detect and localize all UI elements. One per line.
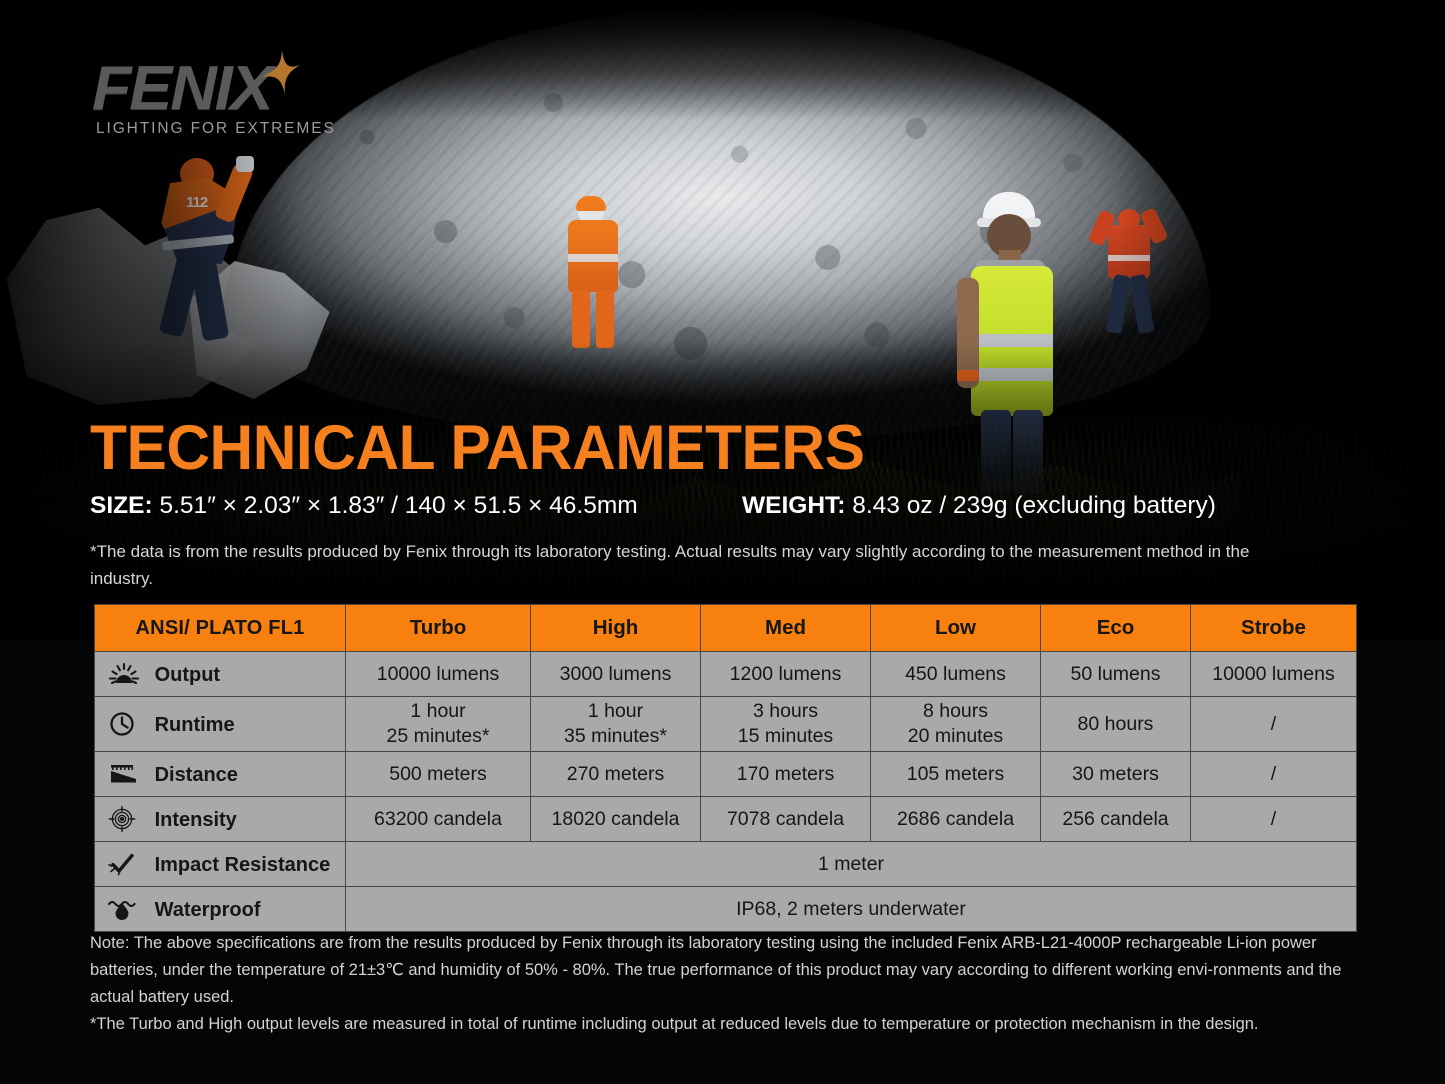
cell-output-med: 1200 lumens bbox=[701, 652, 871, 697]
worker2-reflective-stripe bbox=[568, 254, 618, 262]
cell-runtime-strobe: / bbox=[1191, 697, 1357, 752]
cell-distance-high: 270 meters bbox=[531, 752, 701, 797]
weight-spec: WEIGHT: 8.43 oz / 239g (excluding batter… bbox=[742, 492, 1216, 520]
rowhead-intensity-label: Intensity bbox=[155, 809, 237, 832]
table-row-impact-resistance: Impact Resistance 1 meter bbox=[95, 842, 1357, 887]
col-header-ansi: ANSI/ PLATO FL1 bbox=[95, 605, 346, 652]
rowhead-output-label: Output bbox=[155, 664, 221, 687]
size-spec: SIZE: 5.51″ × 2.03″ × 1.83″ / 140 × 51.5… bbox=[90, 492, 638, 520]
weight-label: WEIGHT: bbox=[742, 492, 845, 519]
col-header-eco: Eco bbox=[1041, 605, 1191, 652]
col-header-low: Low bbox=[871, 605, 1041, 652]
weight-value: 8.43 oz / 239g (excluding battery) bbox=[852, 492, 1216, 519]
worker2-helmet bbox=[576, 196, 606, 211]
rowhead-waterproof-label: Waterproof bbox=[155, 899, 261, 922]
cell-intensity-low: 2686 candela bbox=[871, 797, 1041, 842]
cell-intensity-turbo: 63200 candela bbox=[346, 797, 531, 842]
brand-tagline: LIGHTING FOR EXTREMES bbox=[96, 120, 336, 138]
size-value: 5.51″ × 2.03″ × 1.83″ / 140 × 51.5 × 46.… bbox=[159, 492, 637, 519]
rowhead-impact-resistance: Impact Resistance bbox=[95, 842, 346, 887]
table-row-distance: Distance 500 meters 270 meters 170 meter… bbox=[95, 752, 1357, 797]
clock-icon bbox=[107, 711, 141, 737]
rowhead-impact-label: Impact Resistance bbox=[155, 854, 331, 877]
col-header-med: Med bbox=[701, 605, 871, 652]
beam-distance-icon bbox=[107, 761, 141, 787]
cell-intensity-med: 7078 candela bbox=[701, 797, 871, 842]
light-burst-icon bbox=[107, 661, 141, 687]
data-disclaimer: *The data is from the results produced b… bbox=[90, 538, 1270, 592]
waterdrop-icon bbox=[107, 896, 141, 922]
cell-runtime-high: 1 hour35 minutes* bbox=[531, 697, 701, 752]
rowhead-intensity: Intensity bbox=[95, 797, 346, 842]
col-header-turbo: Turbo bbox=[346, 605, 531, 652]
note-line-1: Note: The above specifications are from … bbox=[90, 930, 1380, 1011]
rowhead-distance: Distance bbox=[95, 752, 346, 797]
col-header-high: High bbox=[531, 605, 701, 652]
table-row-runtime: Runtime 1 hour25 minutes* 1 hour35 minut… bbox=[95, 697, 1357, 752]
cell-impact-resistance-value: 1 meter bbox=[346, 842, 1357, 887]
cell-output-turbo: 10000 lumens bbox=[346, 652, 531, 697]
cell-output-high: 3000 lumens bbox=[531, 652, 701, 697]
target-intensity-icon bbox=[107, 806, 141, 832]
table-row-waterproof: Waterproof IP68, 2 meters underwater bbox=[95, 887, 1357, 932]
spec-summary: SIZE: 5.51″ × 2.03″ × 1.83″ / 140 × 51.5… bbox=[90, 492, 1370, 522]
footer-notes: Note: The above specifications are from … bbox=[90, 930, 1380, 1038]
rowhead-runtime: Runtime bbox=[95, 697, 346, 752]
technical-parameters-table: ANSI/ PLATO FL1 Turbo High Med Low Eco S… bbox=[94, 604, 1357, 932]
fenix-logo: FENIX LIGHTING FOR EXTREMES bbox=[92, 58, 402, 148]
cell-runtime-low: 8 hours20 minutes bbox=[871, 697, 1041, 752]
rowhead-distance-label: Distance bbox=[155, 764, 238, 787]
star-icon bbox=[252, 50, 300, 98]
cell-distance-med: 170 meters bbox=[701, 752, 871, 797]
cell-waterproof-value: IP68, 2 meters underwater bbox=[346, 887, 1357, 932]
cell-distance-turbo: 500 meters bbox=[346, 752, 531, 797]
table-header-row: ANSI/ PLATO FL1 Turbo High Med Low Eco S… bbox=[95, 605, 1357, 652]
cell-intensity-eco: 256 candela bbox=[1041, 797, 1191, 842]
cell-distance-strobe: / bbox=[1191, 752, 1357, 797]
rowhead-output: Output bbox=[95, 652, 346, 697]
vignette-bottom bbox=[0, 340, 1445, 640]
table-row-intensity: Intensity 63200 candela 18020 candela 70… bbox=[95, 797, 1357, 842]
table-row-output: Output 10000 lumens 3000 lumens 1200 lum… bbox=[95, 652, 1357, 697]
cell-output-strobe: 10000 lumens bbox=[1191, 652, 1357, 697]
note-line-2: *The Turbo and High output levels are me… bbox=[90, 1011, 1380, 1038]
impact-check-icon bbox=[107, 851, 141, 877]
rowhead-runtime-label: Runtime bbox=[155, 714, 235, 737]
cell-runtime-eco: 80 hours bbox=[1041, 697, 1191, 752]
cell-runtime-med: 3 hours15 minutes bbox=[701, 697, 871, 752]
rowhead-waterproof: Waterproof bbox=[95, 887, 346, 932]
col-header-strobe: Strobe bbox=[1191, 605, 1357, 652]
cell-output-eco: 50 lumens bbox=[1041, 652, 1191, 697]
rescue-worker-center bbox=[548, 198, 638, 348]
cell-distance-low: 105 meters bbox=[871, 752, 1041, 797]
cell-intensity-high: 18020 candela bbox=[531, 797, 701, 842]
cell-intensity-strobe: / bbox=[1191, 797, 1357, 842]
size-label: SIZE: bbox=[90, 492, 153, 519]
cell-runtime-turbo: 1 hour25 minutes* bbox=[346, 697, 531, 752]
cell-distance-eco: 30 meters bbox=[1041, 752, 1191, 797]
page-title: TECHNICAL PARAMETERS bbox=[90, 412, 864, 484]
cell-output-low: 450 lumens bbox=[871, 652, 1041, 697]
poster-root: 112 bbox=[0, 0, 1445, 1084]
